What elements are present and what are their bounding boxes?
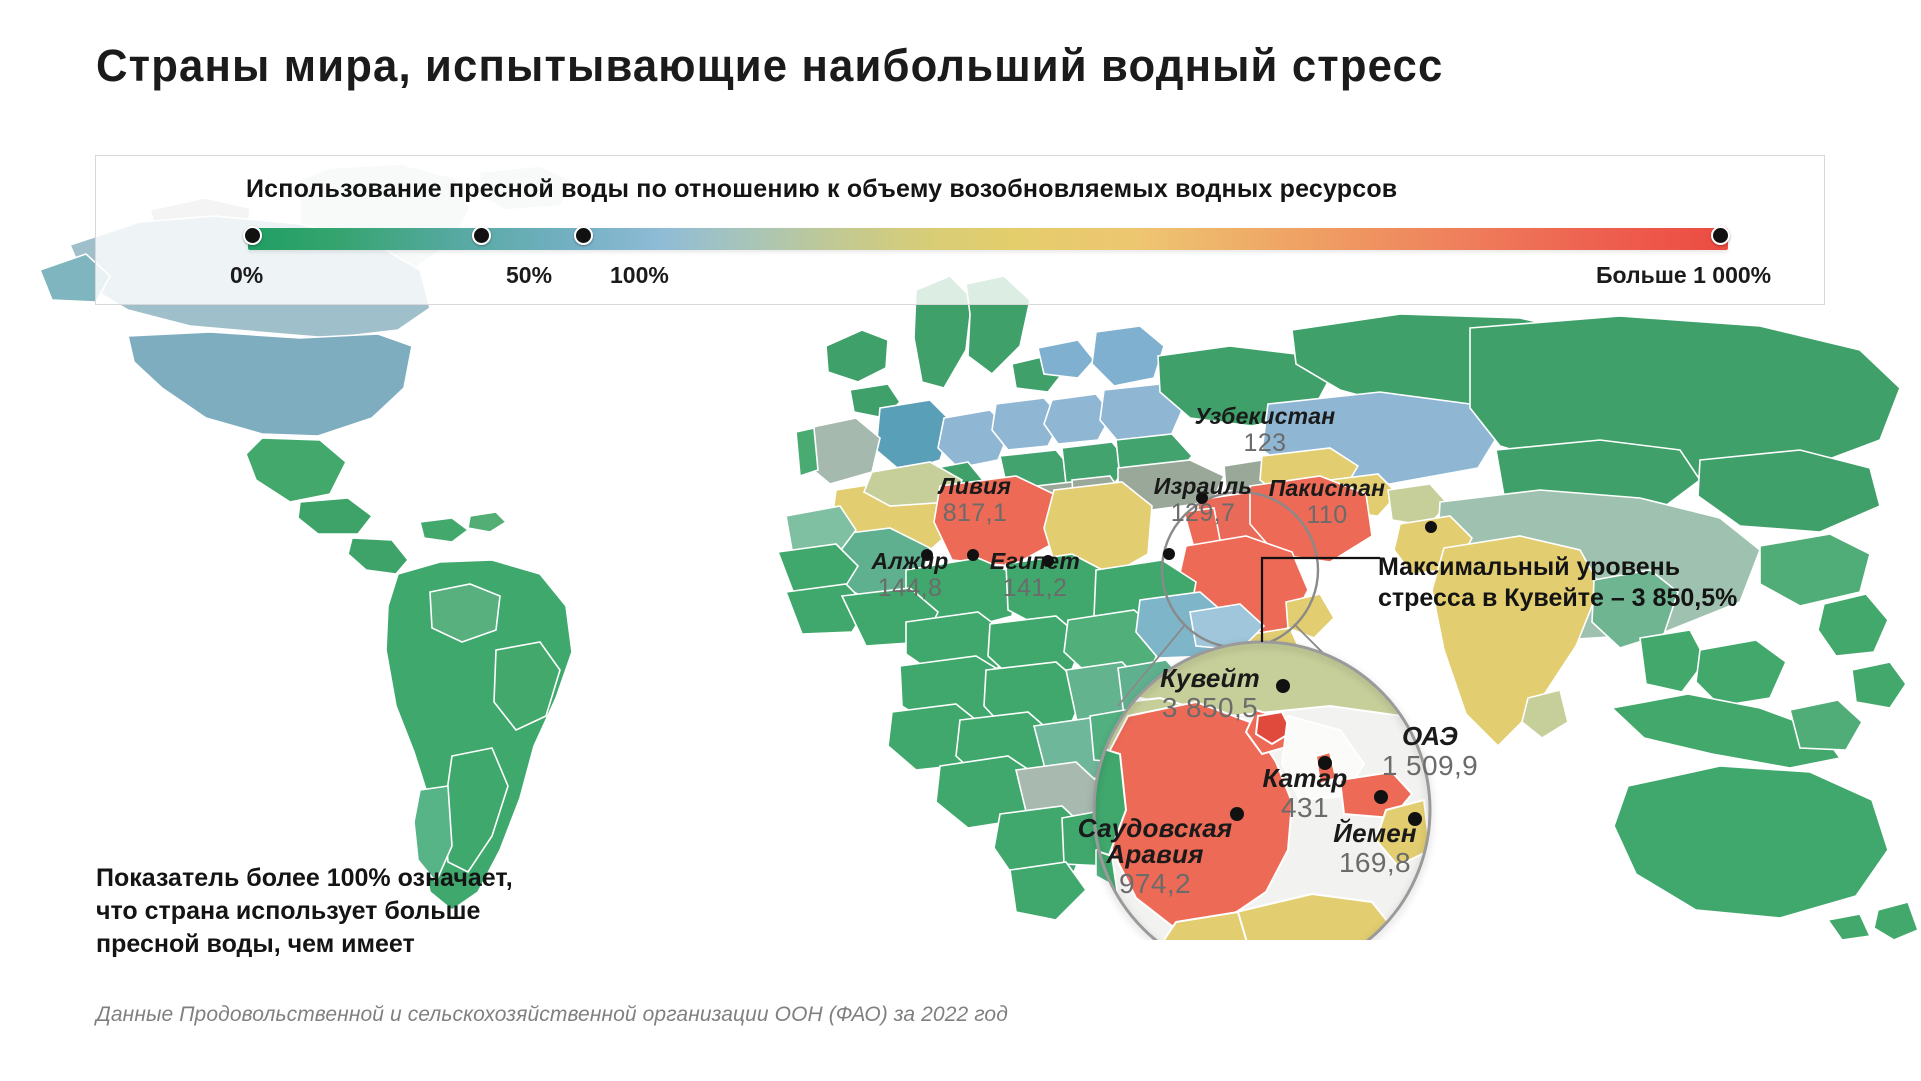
legend-tick-dot-max — [1711, 226, 1730, 245]
label-saudi-name-line2: Аравия — [1040, 841, 1270, 867]
label-kuwait: Кувейт 3 850,5 — [1105, 665, 1315, 722]
label-egypt-value: 141,2 — [955, 576, 1115, 601]
note-line-1: Показатель более 100% означает, — [96, 862, 636, 895]
explanatory-note: Показатель более 100% означает, что стра… — [96, 862, 636, 961]
point-pakistan — [1425, 521, 1437, 533]
legend-label-max: Больше 1 000% — [1596, 262, 1771, 289]
label-uae-name: ОАЭ — [1335, 723, 1525, 749]
page-title: Страны мира, испытывающие наибольший вод… — [96, 40, 1443, 92]
legend-tick-dot-0 — [243, 226, 262, 245]
label-saudi-arabia: Саудовская Аравия 974,2 — [1040, 815, 1270, 898]
label-libya-name: Ливия — [900, 475, 1050, 498]
label-uzbekistan: Узбекистан 123 — [1170, 405, 1360, 456]
callout-line-2: стресса в Кувейте – 3 850,5% — [1378, 583, 1848, 614]
legend-title: Использование пресной воды по отношению … — [246, 175, 1397, 204]
label-uae: ОАЭ 1 509,9 — [1335, 723, 1525, 780]
note-line-2: что страна использует больше — [96, 895, 636, 928]
legend-gradient-bar[interactable] — [248, 228, 1728, 250]
point-uae — [1374, 790, 1388, 804]
point-yemen — [1408, 812, 1422, 826]
label-saudi-value: 974,2 — [1040, 870, 1270, 898]
label-libya-value: 817,1 — [900, 501, 1050, 526]
label-israel-name: Израиль — [1118, 475, 1288, 498]
point-algeria — [921, 549, 933, 561]
callout-max-stress: Максимальный уровень стресса в Кувейте –… — [1378, 552, 1848, 614]
label-uzbekistan-value: 123 — [1170, 431, 1360, 456]
label-yemen: Йемен 169,8 — [1285, 820, 1465, 877]
point-saudi-arabia — [1230, 807, 1244, 821]
point-egypt — [1042, 555, 1054, 567]
label-kuwait-value: 3 850,5 — [1105, 694, 1315, 722]
legend-tick-dot-100 — [574, 226, 593, 245]
legend-label-50: 50% — [506, 262, 552, 289]
label-egypt-name: Египет — [955, 550, 1115, 573]
label-egypt: Египет 141,2 — [955, 550, 1115, 601]
legend-tick-dot-50 — [472, 226, 491, 245]
label-yemen-value: 169,8 — [1285, 849, 1465, 877]
callout-line-1: Максимальный уровень — [1378, 552, 1848, 583]
legend-label-0: 0% — [230, 262, 263, 289]
source-credit: Данные Продовольственной и сельскохозяйс… — [96, 1003, 1008, 1027]
note-line-3: пресной воды, чем имеет — [96, 928, 636, 961]
label-uae-value: 1 509,9 — [1335, 752, 1525, 780]
point-israel — [1163, 548, 1175, 560]
infographic-root: Страны мира, испытывающие наибольший вод… — [0, 0, 1921, 1081]
label-libya: Ливия 817,1 — [900, 475, 1050, 526]
label-israel-value: 129,7 — [1118, 501, 1288, 526]
point-kuwait — [1276, 679, 1290, 693]
label-israel: Израиль 129,7 — [1118, 475, 1288, 526]
legend-label-100: 100% — [610, 262, 669, 289]
point-qatar — [1318, 756, 1332, 770]
label-yemen-name: Йемен — [1285, 820, 1465, 846]
label-uzbekistan-name: Узбекистан — [1170, 405, 1360, 428]
